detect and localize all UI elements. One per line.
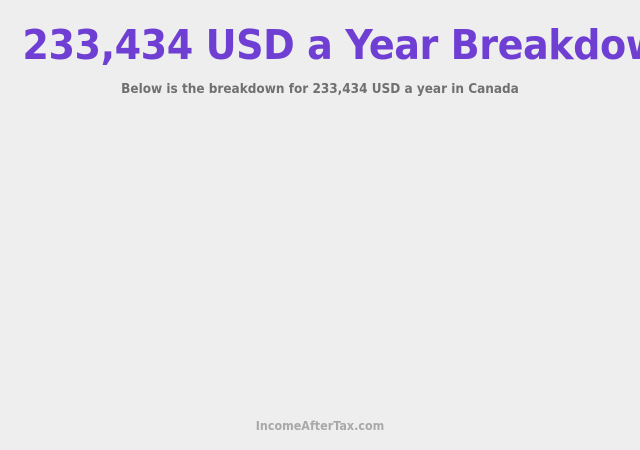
page-title: 233,434 USD a Year Breakdown [22,0,617,70]
income-breakdown-page: 233,434 USD a Year Breakdown Below is th… [0,0,640,450]
chart-area [0,120,640,405]
page-header: 233,434 USD a Year Breakdown Below is th… [0,0,640,98]
page-subtitle: Below is the breakdown for 233,434 USD a… [22,70,617,98]
chart-empty-placeholder [0,120,640,405]
footer-watermark: IncomeAfterTax.com [22,418,617,434]
